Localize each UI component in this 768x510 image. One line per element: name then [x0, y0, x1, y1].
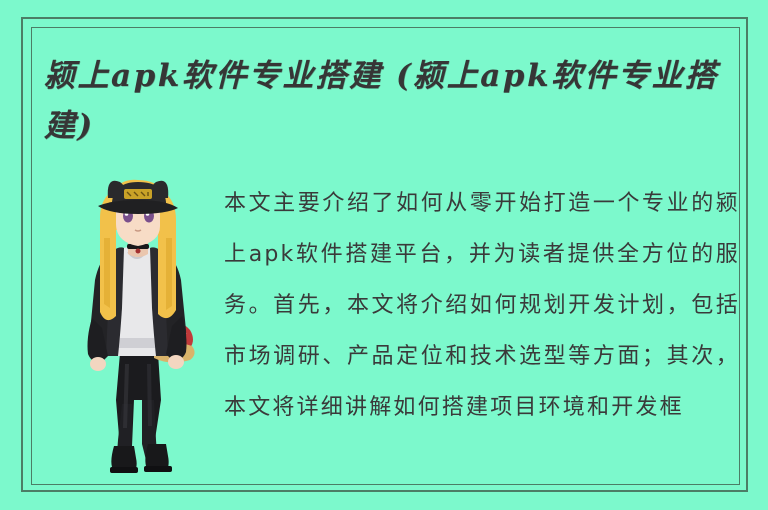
hand-left	[90, 357, 106, 371]
title-block: 颍上apk软件专业搭建 (颍上apk软件专业搭建)	[44, 51, 724, 151]
hand-right	[168, 355, 184, 369]
body-text-block: 本文主要介绍了如何从零开始打造一个专业的颍上apk软件搭建平台，并为读者提供全方…	[224, 178, 740, 478]
anime-character-icon	[62, 168, 212, 478]
boot-right-sole	[144, 466, 172, 472]
character-illustration	[62, 168, 212, 478]
article-summary: 本文主要介绍了如何从零开始打造一个专业的颍上apk软件搭建平台，并为读者提供全方…	[224, 178, 740, 433]
poster-canvas: 颍上apk软件专业搭建 (颍上apk软件专业搭建)	[0, 0, 768, 510]
shirt-hem-stripe	[119, 338, 155, 348]
choker-charm	[136, 249, 141, 254]
hair-strand-right	[166, 238, 172, 310]
hair-strand-left	[104, 238, 110, 308]
boot-left-sole	[110, 467, 138, 473]
page-title: 颍上apk软件专业搭建 (颍上apk软件专业搭建)	[44, 51, 724, 151]
